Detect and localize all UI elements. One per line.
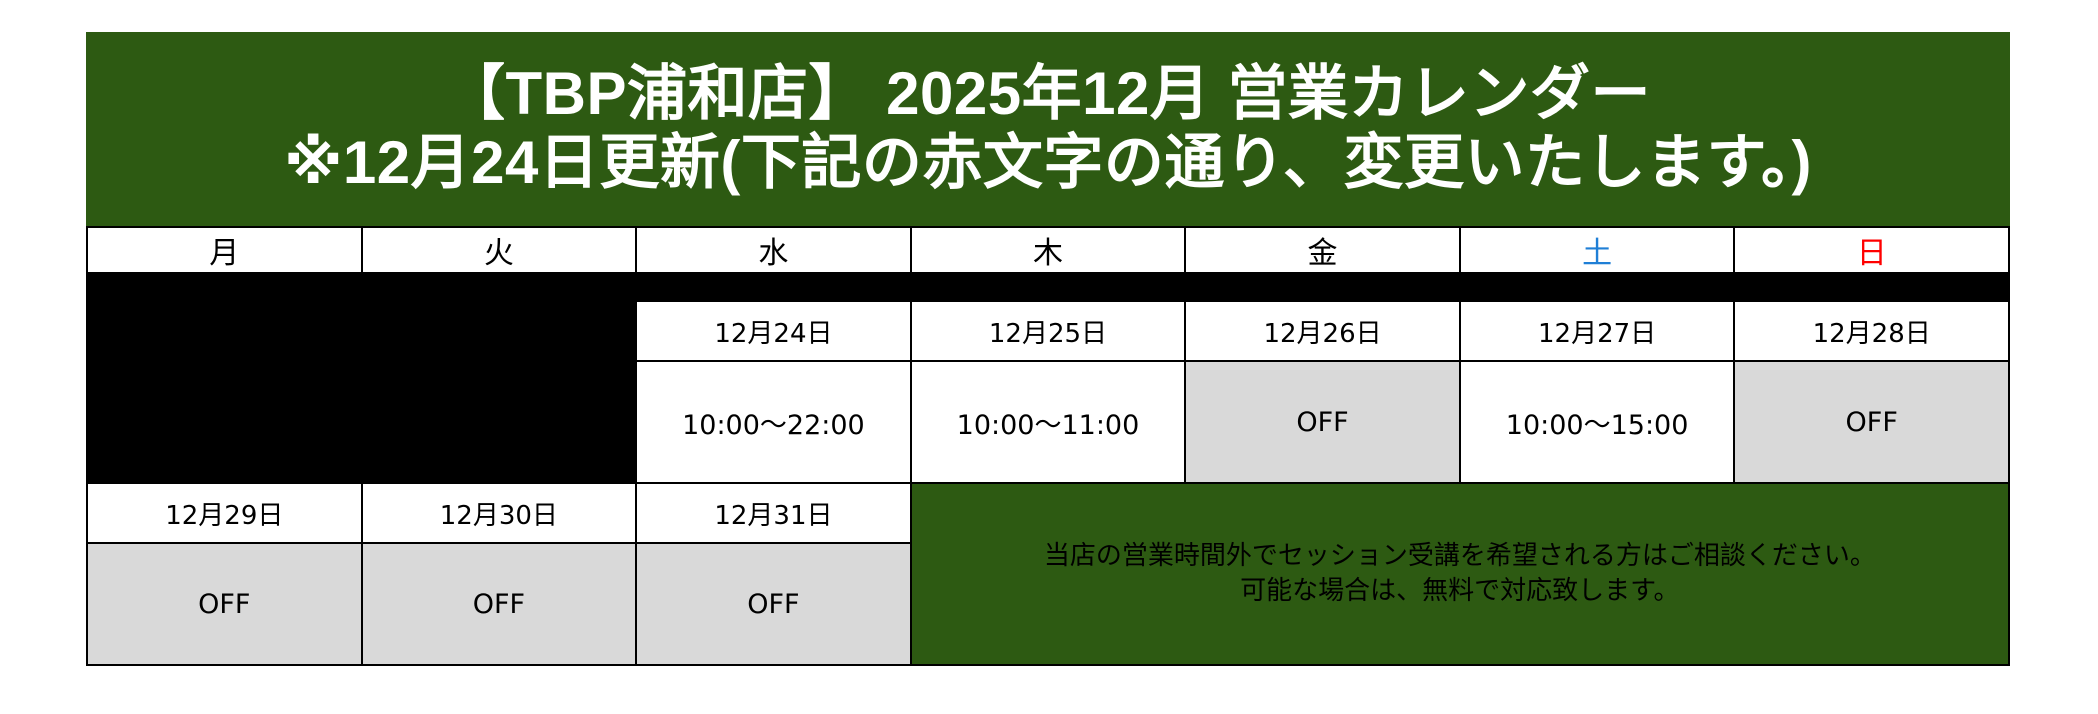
closing-note-line-1: 当店の営業時間外でセッション受講を希望される方はご相談ください。	[912, 539, 2008, 574]
band-segment	[1734, 273, 2009, 301]
weekday-header-tue: 火	[362, 227, 637, 273]
hours-cell-1230: OFF	[362, 543, 637, 665]
band-segment	[1185, 273, 1460, 301]
date-cell-1230: 12月30日	[362, 483, 637, 543]
hours-cell-1226: OFF	[1185, 361, 1460, 483]
blocked-cell-mon	[87, 301, 362, 483]
closing-note-block: 当店の営業時間外でセッション受講を希望される方はご相談ください。 可能な場合は、…	[911, 483, 2009, 665]
calendar-page: 【TBP浦和店】 2025年12月 営業カレンダー ※12月24日更新(下記の赤…	[0, 0, 2098, 714]
weekday-header-sat: 土	[1460, 227, 1735, 273]
week1-date-row: 12月24日 12月25日 12月26日 12月27日 12月28日	[87, 301, 2009, 361]
hours-cell-1224: 10:00〜22:00	[636, 361, 911, 483]
weekday-header-row: 月 火 水 木 金 土 日	[87, 227, 2009, 273]
date-cell-1231: 12月31日	[636, 483, 911, 543]
date-cell-1225: 12月25日	[911, 301, 1186, 361]
banner-title-line-1: 【TBP浦和店】 2025年12月 営業カレンダー	[445, 62, 1651, 127]
hours-cell-1225: 10:00〜11:00	[911, 361, 1186, 483]
hours-cell-1227: 10:00〜15:00	[1460, 361, 1735, 483]
hours-cell-1229: OFF	[87, 543, 362, 665]
band-segment	[87, 273, 362, 301]
weekday-header-wed: 水	[636, 227, 911, 273]
weekday-header-sun: 日	[1734, 227, 2009, 273]
hours-cell-1231: OFF	[636, 543, 911, 665]
closing-note-line-2: 可能な場合は、無料で対応致します。	[912, 574, 2008, 609]
blocked-cell-tue	[362, 301, 637, 483]
date-cell-1228: 12月28日	[1734, 301, 2009, 361]
weekday-header-fri: 金	[1185, 227, 1460, 273]
title-banner: 【TBP浦和店】 2025年12月 営業カレンダー ※12月24日更新(下記の赤…	[86, 32, 2010, 226]
week1-top-band	[87, 273, 2009, 301]
date-cell-1224: 12月24日	[636, 301, 911, 361]
date-cell-1226: 12月26日	[1185, 301, 1460, 361]
week2-date-row: 12月29日 12月30日 12月31日 当店の営業時間外でセッション受講を希望…	[87, 483, 2009, 543]
weekday-header-thu: 木	[911, 227, 1186, 273]
banner-title-line-2: ※12月24日更新(下記の赤文字の通り、変更いたします。)	[284, 131, 1812, 196]
band-segment	[1460, 273, 1735, 301]
weekday-header-mon: 月	[87, 227, 362, 273]
band-segment	[636, 273, 911, 301]
band-segment	[911, 273, 1186, 301]
business-hours-calendar: 月 火 水 木 金 土 日 12月24日 12月25日 12月26日 12月27…	[86, 226, 2010, 666]
hours-cell-1228: OFF	[1734, 361, 2009, 483]
date-cell-1227: 12月27日	[1460, 301, 1735, 361]
band-segment	[362, 273, 637, 301]
date-cell-1229: 12月29日	[87, 483, 362, 543]
